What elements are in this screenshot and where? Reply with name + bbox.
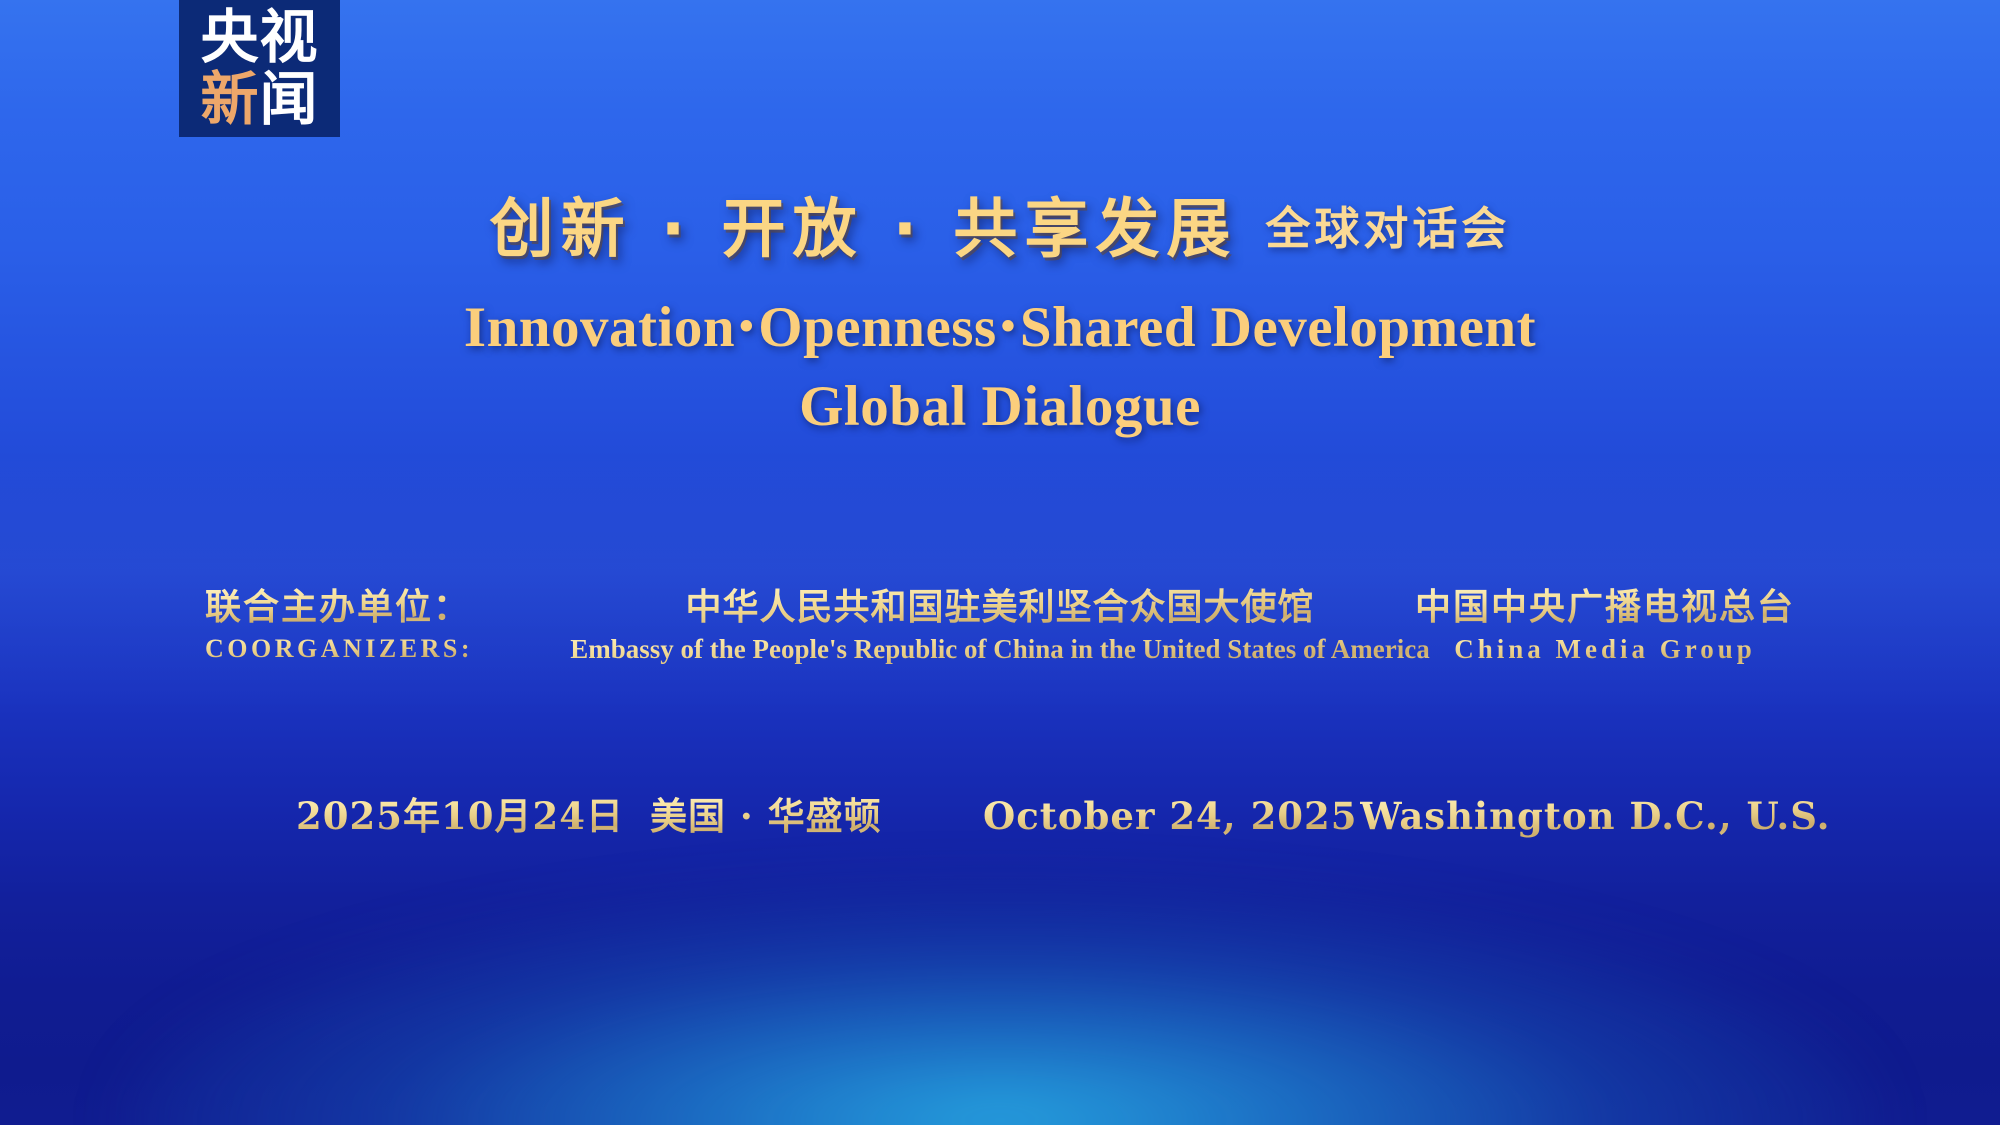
cctv-news-logo: 央视 新 闻 <box>179 0 340 137</box>
logo-char-xin: 新 <box>200 71 259 129</box>
english-title-line-2: Global Dialogue <box>0 367 2000 446</box>
english-title-shared-development: Shared Development <box>1020 296 1536 359</box>
english-title-line-1: Innovation•Openness•Shared Development <box>0 288 2000 367</box>
separator-dot-icon: • <box>997 304 1020 350</box>
event-details-row: 2025年10月24日 美国 · 华盛顿 October 24, 2025 Wa… <box>0 790 2000 850</box>
coorganizers-label: 联合主办单位： COORGANIZERS: <box>205 585 473 669</box>
event-date-cn: 2025年10月24日 <box>296 790 624 842</box>
coorganizer-embassy-en: Embassy of the People's Republic of Chin… <box>570 629 1430 669</box>
event-place-cn: 美国 · 华盛顿 <box>650 790 882 842</box>
logo-line-xinwen: 新 闻 <box>200 71 318 129</box>
separator-dot-icon: • <box>735 304 758 350</box>
headline-cn-subtitle: 全球对话会 <box>1265 204 1510 254</box>
coorganizer-cmg-cn: 中国中央广播电视总台 <box>1415 585 1795 629</box>
headline-cn-main: 创新 · 开放 · 共享发展 <box>490 193 1238 267</box>
english-title: Innovation•Openness•Shared Development G… <box>0 288 2000 446</box>
coorganizers-label-en: COORGANIZERS: <box>205 629 473 669</box>
coorganizer-embassy: 中华人民共和国驻美利坚合众国大使馆 Embassy of the People'… <box>570 585 1430 669</box>
english-title-innovation: Innovation <box>464 296 735 359</box>
english-title-openness: Openness <box>758 296 996 359</box>
coorganizers-section: 联合主办单位： COORGANIZERS: 中华人民共和国驻美利坚合众国大使馆 … <box>0 585 2000 685</box>
event-date-en: October 24, 2025 <box>983 790 1358 842</box>
coorganizer-china-media-group: 中国中央广播电视总台 China Media Group <box>1415 585 1795 669</box>
logo-char-wen: 闻 <box>260 71 319 129</box>
event-place-en: Washington D.C., U.S. <box>1360 790 1831 842</box>
headline: 创新 · 开放 · 共享发展全球对话会 <box>0 178 2000 270</box>
logo-line-yangshi: 央视 <box>200 9 318 67</box>
broadcast-title-card: 央视 新 闻 创新 · 开放 · 共享发展全球对话会 Innovation•Op… <box>0 0 2000 1125</box>
coorganizers-label-cn: 联合主办单位： <box>205 585 473 629</box>
background-bottom-glow <box>125 885 1875 1125</box>
coorganizer-embassy-cn: 中华人民共和国驻美利坚合众国大使馆 <box>570 585 1430 629</box>
coorganizer-cmg-en: China Media Group <box>1415 629 1795 669</box>
